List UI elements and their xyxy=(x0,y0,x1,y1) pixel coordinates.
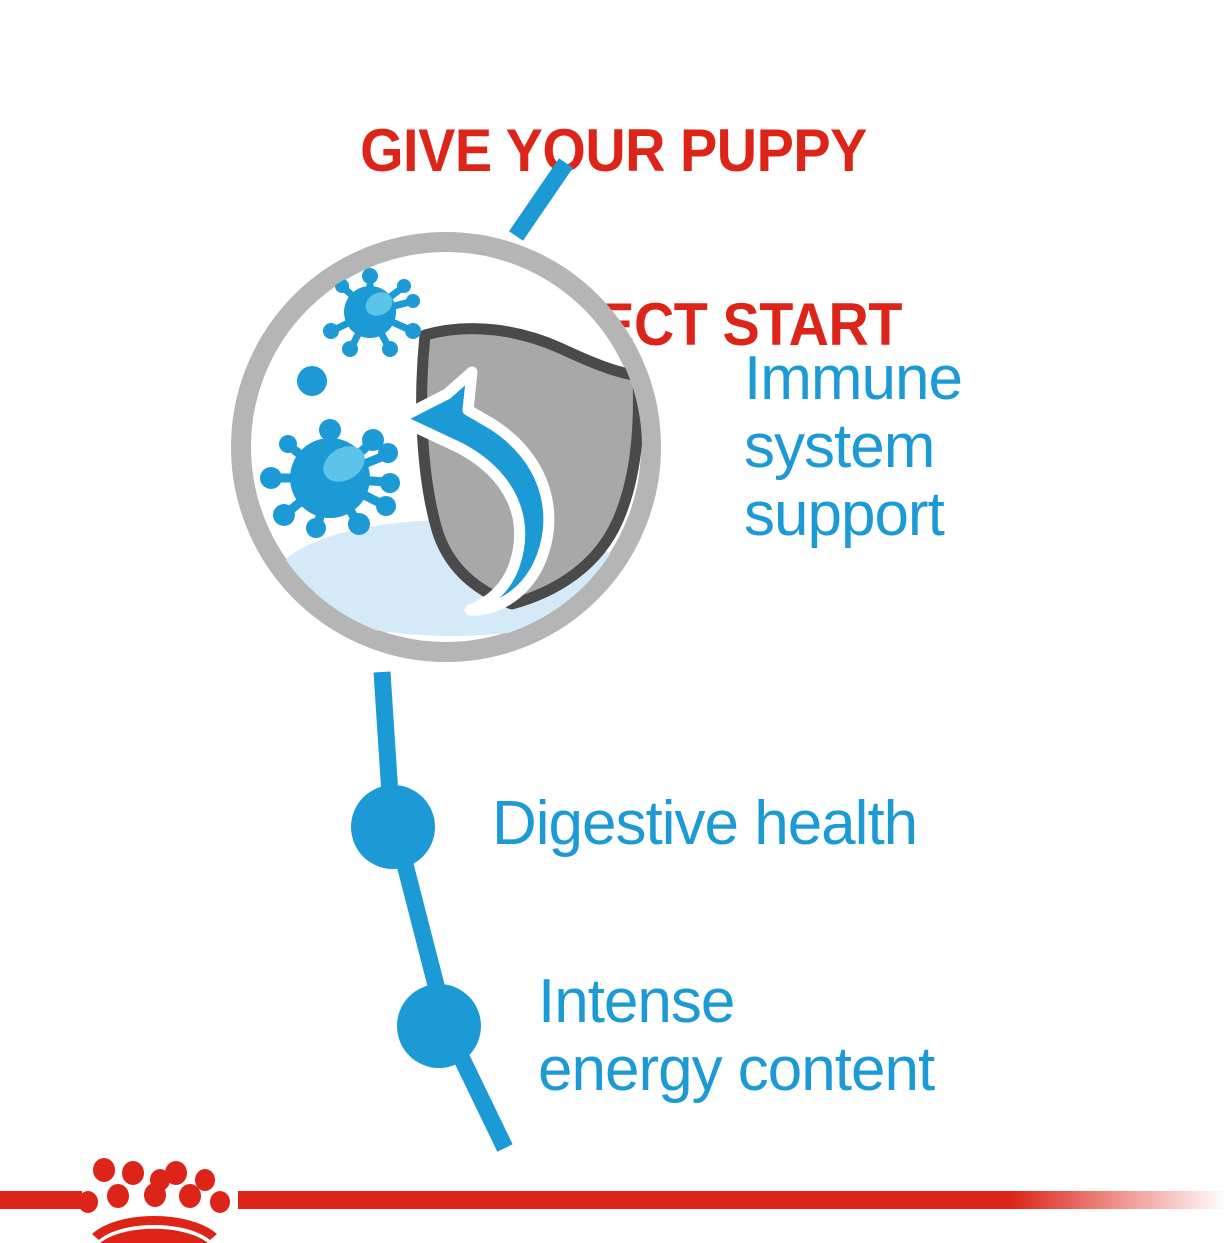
connector-line xyxy=(382,672,505,1148)
page-title: GIVE YOUR PUPPY THE PERFECT START xyxy=(43,6,1184,470)
brand-rule-right xyxy=(238,1191,1227,1209)
ground-ellipse xyxy=(277,520,627,636)
royal-canin-crown-icon xyxy=(78,1158,230,1243)
brand-rule-left xyxy=(0,1191,82,1209)
node-dot-energy xyxy=(397,984,481,1068)
page-title-line-1: GIVE YOUR PUPPY xyxy=(43,122,1184,180)
brand-footer xyxy=(0,1150,1227,1243)
page-title-line-2: THE PERFECT START xyxy=(43,296,1184,354)
feature-label-digestive: Digestive health xyxy=(492,790,917,858)
promo-panel: GIVE YOUR PUPPY THE PERFECT START xyxy=(0,0,1227,1243)
node-dot-digestive xyxy=(351,785,435,869)
feature-label-energy: Intense energy content xyxy=(538,968,934,1104)
feature-label-immune: Immune system support xyxy=(744,345,962,549)
brand-footer-art xyxy=(0,1150,1227,1243)
